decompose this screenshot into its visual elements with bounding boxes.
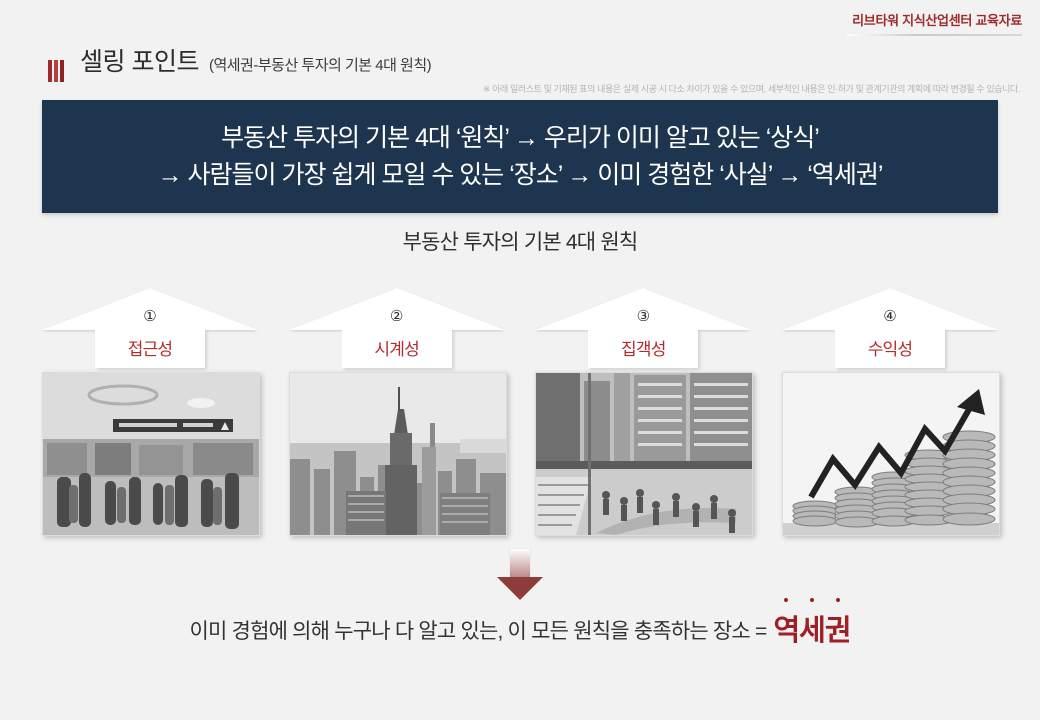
page-title-row: 셀링 포인트 (역세권-부동산 투자의 기본 4대 원칙) xyxy=(48,42,431,79)
principle-number-1: ① xyxy=(42,309,258,324)
principle-number-4: ④ xyxy=(782,309,998,324)
principle-label-3: 집객성 xyxy=(535,335,751,360)
key-message-banner: 부동산 투자의 기본 4대 ‘원칙’ → 우리가 이미 알고 있는 ‘상식’ →… xyxy=(42,100,998,213)
banner-line-1: 부동산 투자의 기본 4대 ‘원칙’ → 우리가 이미 알고 있는 ‘상식’ xyxy=(221,120,819,156)
principle-item-4: ④ 수익성 xyxy=(782,288,998,538)
banner-line-2: → 사람들이 가장 쉽게 모일 수 있는 ‘장소’ → 이미 경험한 ‘사실’ … xyxy=(158,157,883,193)
conclusion-text: 이미 경험에 의해 누구나 다 알고 있는, 이 모든 원칙을 충족하는 장소 … xyxy=(189,620,766,643)
arrow-up-icon-3: ③ 집객성 xyxy=(535,288,751,368)
principle-item-1: ① 접근성 xyxy=(42,288,258,538)
arrow-up-icon-2: ② 시계성 xyxy=(289,288,505,368)
page-subtitle: (역세권-부동산 투자의 기본 4대 원칙) xyxy=(209,54,431,75)
disclaimer-text: ※ 아래 일러스트 및 기재된 표의 내용은 실제 시공 시 다소 차이가 있을… xyxy=(483,82,1020,95)
principle-label-1: 접근성 xyxy=(42,335,258,360)
conclusion-highlight: 역세권 xyxy=(773,615,850,647)
conclusion-line: 이미 경험에 의해 누구나 다 알고 있는, 이 모든 원칙을 충족하는 장소 … xyxy=(0,605,1040,647)
principle-photo-2 xyxy=(289,372,507,536)
page-title: 셀링 포인트 xyxy=(80,42,199,78)
arrow-up-icon-4: ④ 수익성 xyxy=(782,288,998,368)
principle-item-3: ③ 집객성 xyxy=(535,288,751,538)
principle-number-2: ② xyxy=(289,309,505,324)
section-title: 부동산 투자의 기본 4대 원칙 xyxy=(0,226,1040,256)
principle-item-2: ② 시계성 xyxy=(289,288,505,538)
principle-label-4: 수익성 xyxy=(782,335,998,360)
principle-number-3: ③ xyxy=(535,309,751,324)
brand-divider xyxy=(847,34,1022,36)
down-arrow-icon xyxy=(497,548,543,600)
principle-photo-3 xyxy=(535,372,753,536)
principles-row: ① 접근성 xyxy=(42,288,998,538)
brand-tag: 리브타워 지식산업센터 교육자료 xyxy=(847,10,1022,36)
arrow-up-icon-1: ① 접근성 xyxy=(42,288,258,368)
principle-photo-4 xyxy=(782,372,1000,536)
principle-photo-1 xyxy=(42,372,260,536)
principle-label-2: 시계성 xyxy=(289,335,505,360)
brand-label: 리브타워 지식산업센터 교육자료 xyxy=(847,10,1022,29)
triple-bar-icon xyxy=(48,60,70,82)
